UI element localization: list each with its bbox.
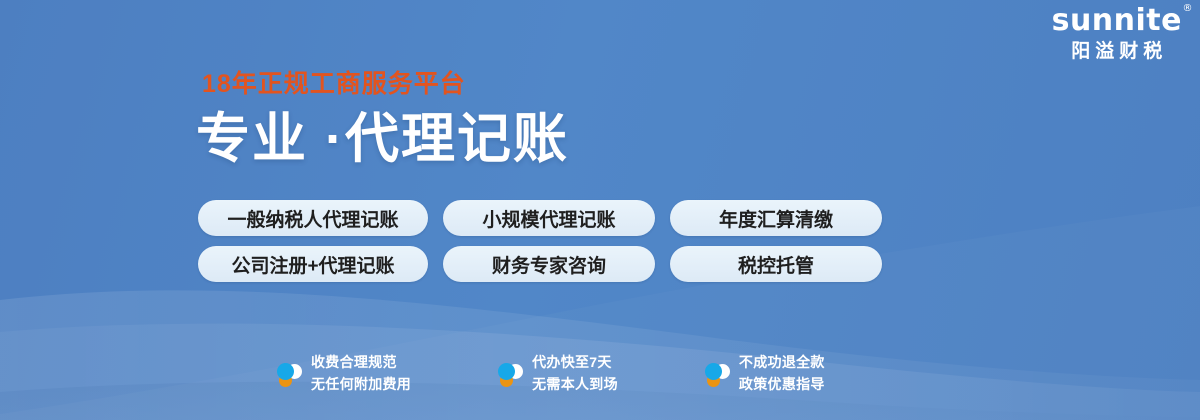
feature-line-1: 代办快至7天: [532, 354, 612, 370]
registered-trademark-icon: ®: [1183, 4, 1194, 14]
feature-line-1: 收费合理规范: [311, 354, 397, 370]
service-pill-row: 一般纳税人代理记账 小规模代理记账 年度汇算清缴: [198, 200, 882, 236]
dots-cluster-icon: [276, 361, 302, 387]
feature-text: 收费合理规范 无任何附加费用: [311, 352, 411, 395]
service-pill-finance-expert-consulting[interactable]: 财务专家咨询: [443, 246, 655, 282]
promo-banner: sunnite ® 阳溢财税 18年正规工商服务平台 专业 ·代理记账 一般纳税…: [0, 0, 1200, 420]
feature-line-1: 不成功退全款: [739, 354, 825, 370]
feature-text: 代办快至7天 无需本人到场: [532, 352, 618, 395]
feature-strip: 收费合理规范 无任何附加费用 代办快至7天 无需本人到场 不成功退全款 政策优惠…: [276, 352, 825, 395]
feature-line-2: 无需本人到场: [532, 376, 618, 392]
logo-chinese-name: 阳溢财税: [1052, 42, 1182, 61]
hero-title: 专业 ·代理记账: [196, 111, 569, 168]
feature-item-guarantee: 不成功退全款 政策优惠指导: [704, 352, 825, 395]
feature-text: 不成功退全款 政策优惠指导: [739, 352, 825, 395]
feature-item-speed: 代办快至7天 无需本人到场: [497, 352, 618, 395]
brand-logo[interactable]: sunnite ® 阳溢财税: [1052, 6, 1182, 61]
service-pill-row: 公司注册+代理记账 财务专家咨询 税控托管: [198, 246, 882, 282]
service-pill-small-scale-bookkeeping[interactable]: 小规模代理记账: [443, 200, 655, 236]
service-pill-tax-control-hosting[interactable]: 税控托管: [670, 246, 882, 282]
hero-tagline: 18年正规工商服务平台: [202, 72, 569, 97]
feature-line-2: 无任何附加费用: [311, 376, 411, 392]
service-pill-grid: 一般纳税人代理记账 小规模代理记账 年度汇算清缴 公司注册+代理记账 财务专家咨…: [198, 200, 882, 282]
headline-block: 18年正规工商服务平台 专业 ·代理记账: [196, 72, 569, 168]
feature-line-2: 政策优惠指导: [739, 376, 825, 392]
logo-wordmark-text: sunnite: [1052, 3, 1182, 38]
dots-cluster-icon: [704, 361, 730, 387]
feature-item-pricing: 收费合理规范 无任何附加费用: [276, 352, 411, 395]
service-pill-company-registration-bookkeeping[interactable]: 公司注册+代理记账: [198, 246, 428, 282]
service-pill-annual-settlement[interactable]: 年度汇算清缴: [670, 200, 882, 236]
logo-wordmark: sunnite ®: [1052, 6, 1182, 36]
service-pill-general-taxpayer-bookkeeping[interactable]: 一般纳税人代理记账: [198, 200, 428, 236]
dots-cluster-icon: [497, 361, 523, 387]
